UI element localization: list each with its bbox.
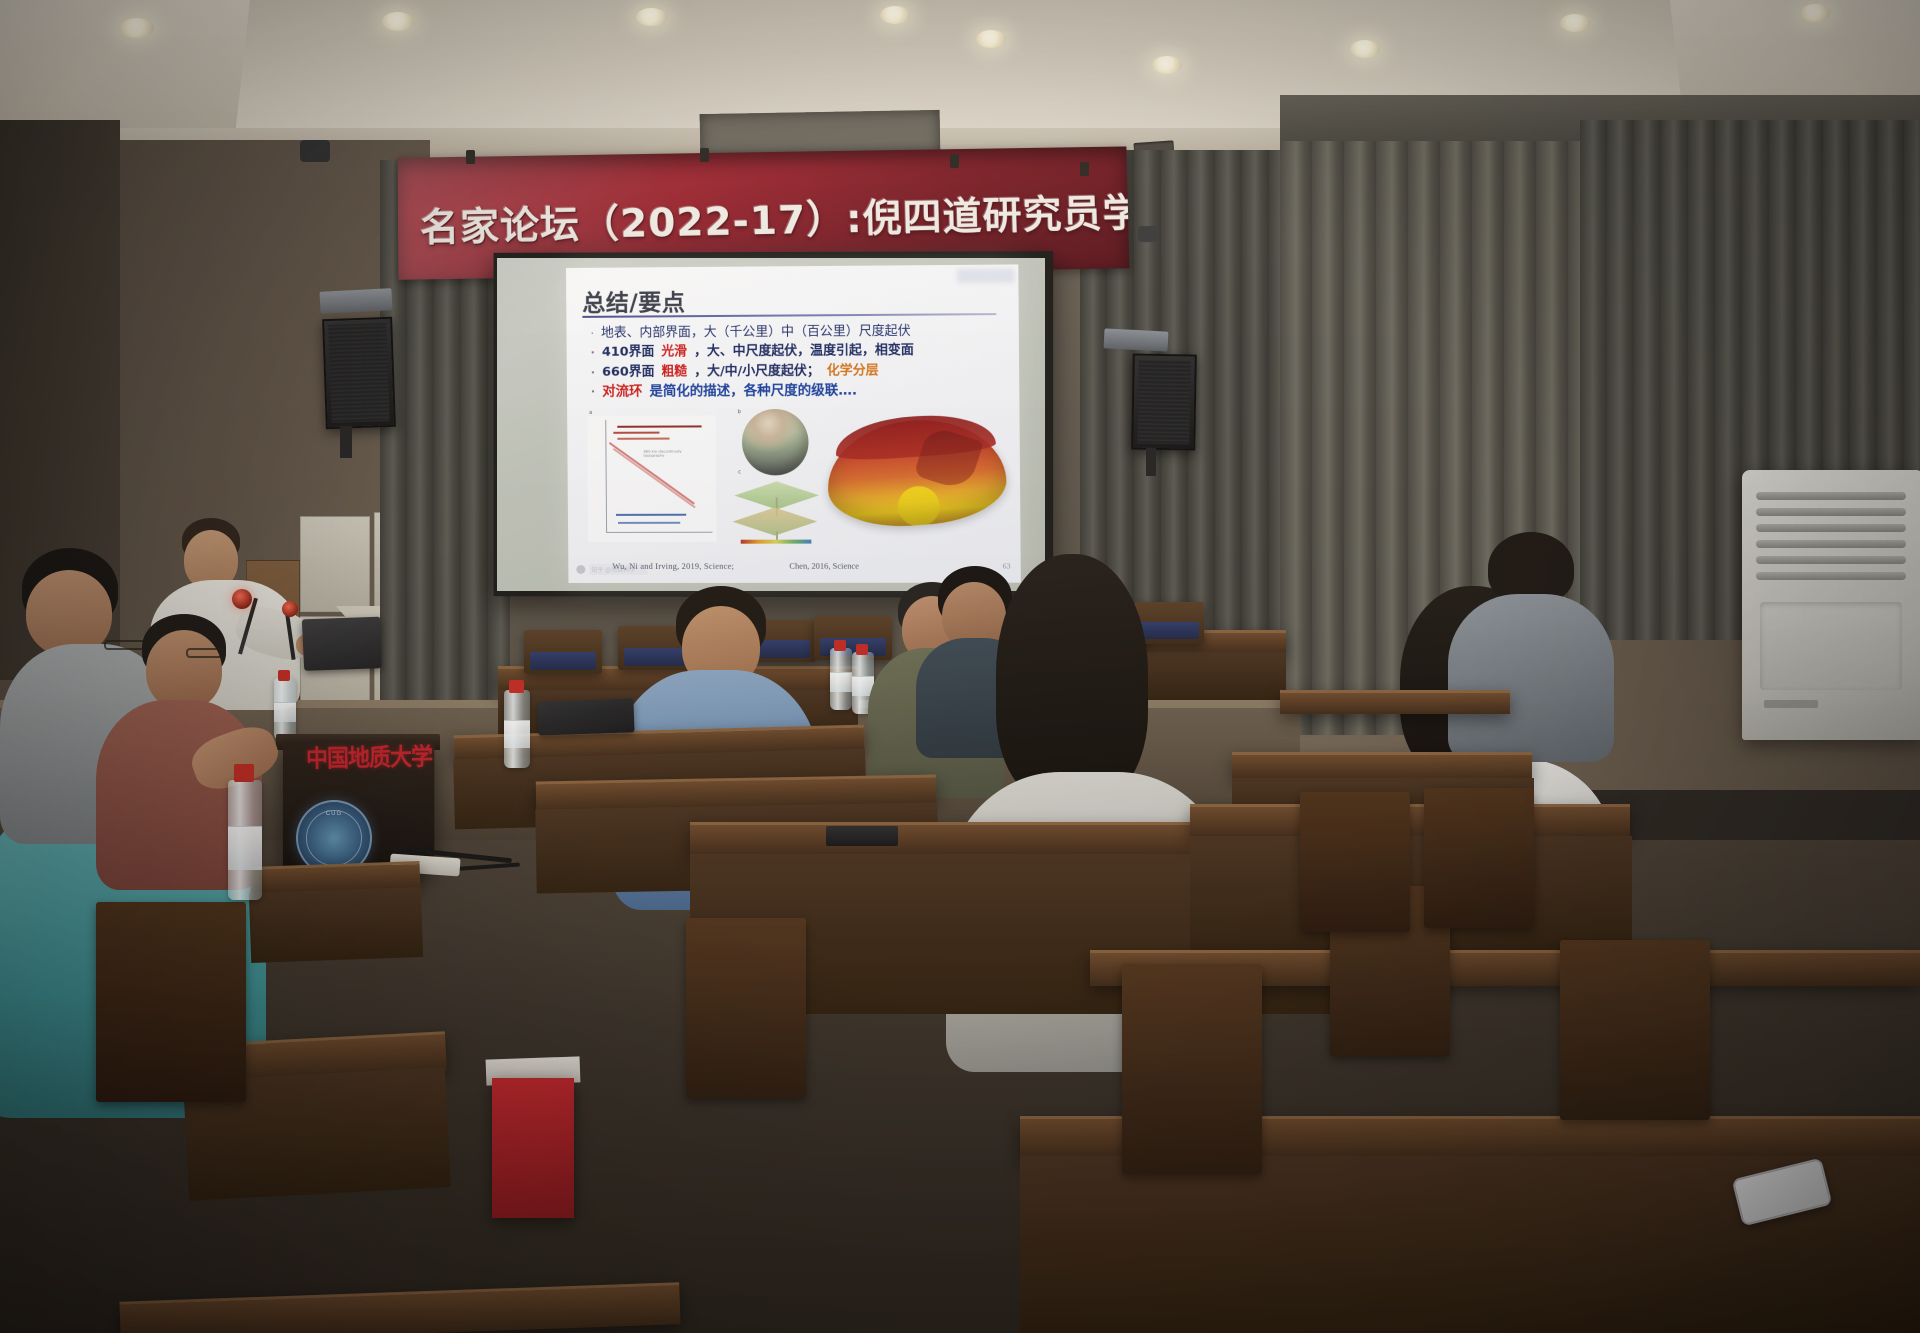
slide-bullet-list: · 地表、内部界面，大（千公里）中（百公里）尺度起伏 · 410界面光滑，大、中… [590,323,1015,404]
emblem-text: CUG [298,811,370,817]
bottle-label [228,826,262,870]
bottle-label [830,672,852,692]
ac-brand-logo [1764,700,1818,708]
bottle-label [504,720,530,748]
chair[interactable] [1560,940,1710,1120]
audience-head [146,630,222,710]
ac-vent-slat [1756,556,1906,564]
foreground-desk-left-panel [249,887,423,963]
figure-earth-globe [742,409,809,476]
bullet-text-highlight: 光滑 [661,345,687,362]
slide-bullet: · 对流环是简化的描述，各种尺度的级联…. [591,382,1015,402]
lecture-hall-photo: 名家论坛（2022-17）:倪四道研究员学术报告会 总结/要点 · 地表、内部界… [0,0,1920,1333]
presenter-laptop[interactable] [302,617,382,671]
banner-clip-icon [950,154,959,168]
chair[interactable] [686,918,806,1098]
bottle-cap-icon [834,640,846,651]
water-bottle [504,690,530,768]
microphone-head-icon [232,589,252,609]
slide-bullet: · 地表、内部界面，大（千公里）中（百公里）尺度起伏 [590,323,1014,343]
audience-member [1448,532,1618,762]
wall-camera-icon [300,140,330,162]
bullet-text: ，大/中/小尺度起伏； [694,363,820,381]
microphone-head-icon [282,601,298,617]
plot-reference-line [613,432,659,434]
plot-annotation: 660-km discontinuity topography [644,450,698,458]
figure-panel-label-b: b [738,409,741,415]
bullet-marker-icon: · [591,365,595,382]
audience-desk-right [1190,804,1630,838]
audience-desk [1280,690,1510,714]
air-conditioner-unit [1742,470,1920,740]
plot-reference-line [617,438,669,440]
banner-clip-icon [1080,162,1089,176]
figure-layer-disc [732,507,817,535]
chair-cushion [530,652,596,670]
bottle-cap-icon [856,644,868,655]
downlight-icon [880,6,910,24]
downlight-icon [1152,56,1182,74]
slide-bullet: · 410界面光滑，大、中尺度起伏，温度引起，相变面 [591,343,1015,362]
bullet-text-highlight: 对流环 [602,384,642,402]
left-speaker-mount [340,426,352,458]
ac-vent-slat [1756,572,1906,580]
right-speaker-mount [1146,448,1156,476]
chair[interactable] [96,902,246,1102]
chair[interactable] [1122,964,1262,1174]
figure-mantle-cutaway [827,412,1017,538]
eyeglasses-icon [186,648,226,658]
gift-bag [492,1078,574,1218]
plot-reference-line [618,522,680,524]
slide-title: 总结/要点 [582,283,685,318]
bullet-marker-icon: · [590,326,594,343]
ac-control-panel[interactable] [1760,602,1902,690]
bullet-text-highlight: 化学分层 [827,363,879,380]
bullet-text: ，大、中尺度起伏，温度引起，相变面 [694,343,914,361]
chair[interactable] [1300,792,1410,932]
audience-hair [996,554,1148,802]
downlight-icon [1560,14,1590,32]
plot-reference-line [616,514,686,516]
watermark-text: 知乎 @地球科学 [589,564,647,575]
chair[interactable] [524,630,602,674]
wall-panel [300,516,370,612]
left-speaker-bracket [319,288,392,314]
downlight-icon [976,30,1006,48]
downlight-icon [382,12,414,31]
slide-bullet: · 660界面粗糙，大/中/小尺度起伏；化学分层 [591,362,1015,381]
right-speaker-bracket [1104,328,1169,351]
plot-y-axis [605,420,607,532]
bottle-cap-icon [509,680,524,693]
audience-torso [1448,594,1614,762]
downlight-icon [120,18,154,38]
chair[interactable] [1424,788,1534,928]
figure-colorbar [741,540,812,544]
plot-x-axis [606,532,712,533]
bullet-text: 660界面 [602,364,655,381]
plot-reference-line [617,425,701,427]
figure-panel-label-c: c [738,469,741,475]
podium-institution-text: 中国地质大学 [306,737,433,774]
emblem-ring [306,810,362,866]
water-bottle [830,648,852,710]
banner-clip-icon [466,150,475,164]
slide-citation-right: Chen, 2016, Science [789,562,859,571]
audience-notebook [826,826,898,846]
audience-desk [1232,752,1532,780]
audience-laptop[interactable] [537,698,634,735]
projected-slide: 总结/要点 · 地表、内部界面，大（千公里）中（百公里）尺度起伏 · 410界面… [566,264,1021,583]
slide-figure: a b c 660-km discontinuity topography [581,406,1006,548]
downlight-icon [1800,4,1830,22]
speaker-grille [1137,360,1190,445]
screen-glare [957,269,1014,284]
slide-watermark: 知乎 @地球科学 [576,564,647,575]
water-bottle [274,678,296,740]
bullet-text: 410界面 [602,345,655,362]
bullet-marker-icon: · [591,345,595,362]
speaker-grille [328,323,389,423]
bullet-marker-icon: · [591,384,595,401]
watermark-dot-icon [576,565,585,574]
bullet-text: 地表、内部界面，大（千公里）中（百公里）尺度起伏 [601,324,911,343]
ac-vent-slat [1756,524,1906,532]
ac-vent-slat [1756,492,1906,500]
figure-scatter-plot: 660-km discontinuity topography [587,415,716,542]
downlight-icon [636,8,667,26]
ac-vent-slat [1756,540,1906,548]
eyeglasses-icon [104,640,146,650]
left-speaker [322,317,396,429]
bullet-text-highlight: 粗糙 [661,364,687,381]
downlight-icon [1350,40,1380,58]
ac-vent-slat [1756,508,1906,516]
bottle-cap-icon [234,764,254,782]
right-speaker [1131,353,1197,450]
bullet-text: 是简化的描述，各种尺度的级联…. [649,383,857,402]
banner-clip-icon [700,148,709,162]
bottle-cap-icon [278,670,290,681]
water-bottle [228,780,262,900]
wall-sensor-icon [1138,226,1158,242]
bottle-label [274,702,296,722]
